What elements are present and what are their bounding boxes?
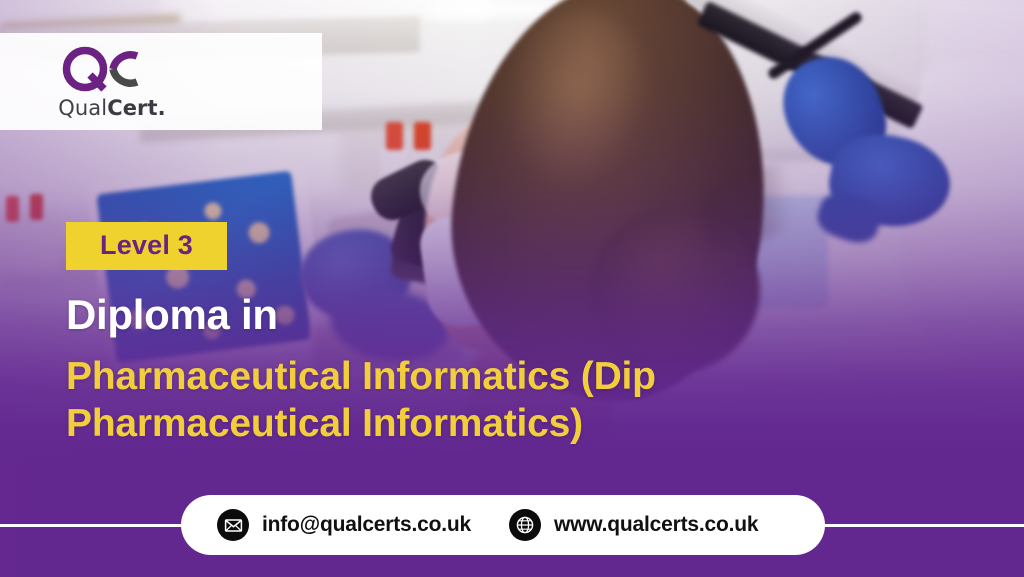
course-info: Level 3 Diploma in Pharmaceutical Inform… [66,222,964,448]
logo-plate[interactable]: QualCert. [0,33,322,130]
contact-email-label: info@qualcerts.co.uk [262,513,471,537]
contact-email[interactable]: info@qualcerts.co.uk [217,509,471,541]
globe-icon [509,509,541,541]
course-title: Pharmaceutical Informatics (Dip Pharmace… [66,353,766,448]
envelope-icon [217,509,249,541]
level-badge: Level 3 [66,222,227,270]
contact-website-label: www.qualcerts.co.uk [554,513,758,537]
contact-website[interactable]: www.qualcerts.co.uk [509,509,758,541]
qualcert-qc-icon [58,44,166,94]
logo[interactable]: QualCert. [58,44,166,120]
course-banner: QualCert. Level 3 Diploma in Pharmaceuti… [0,0,1024,577]
contact-bar: info@qualcerts.co.uk www.qualcerts.co.uk [181,495,825,555]
logo-wordmark-prefix: Qual [58,96,107,120]
logo-wordmark-suffix: Cert. [107,96,166,120]
course-headline: Diploma in [66,293,964,337]
logo-wordmark: QualCert. [58,96,165,120]
